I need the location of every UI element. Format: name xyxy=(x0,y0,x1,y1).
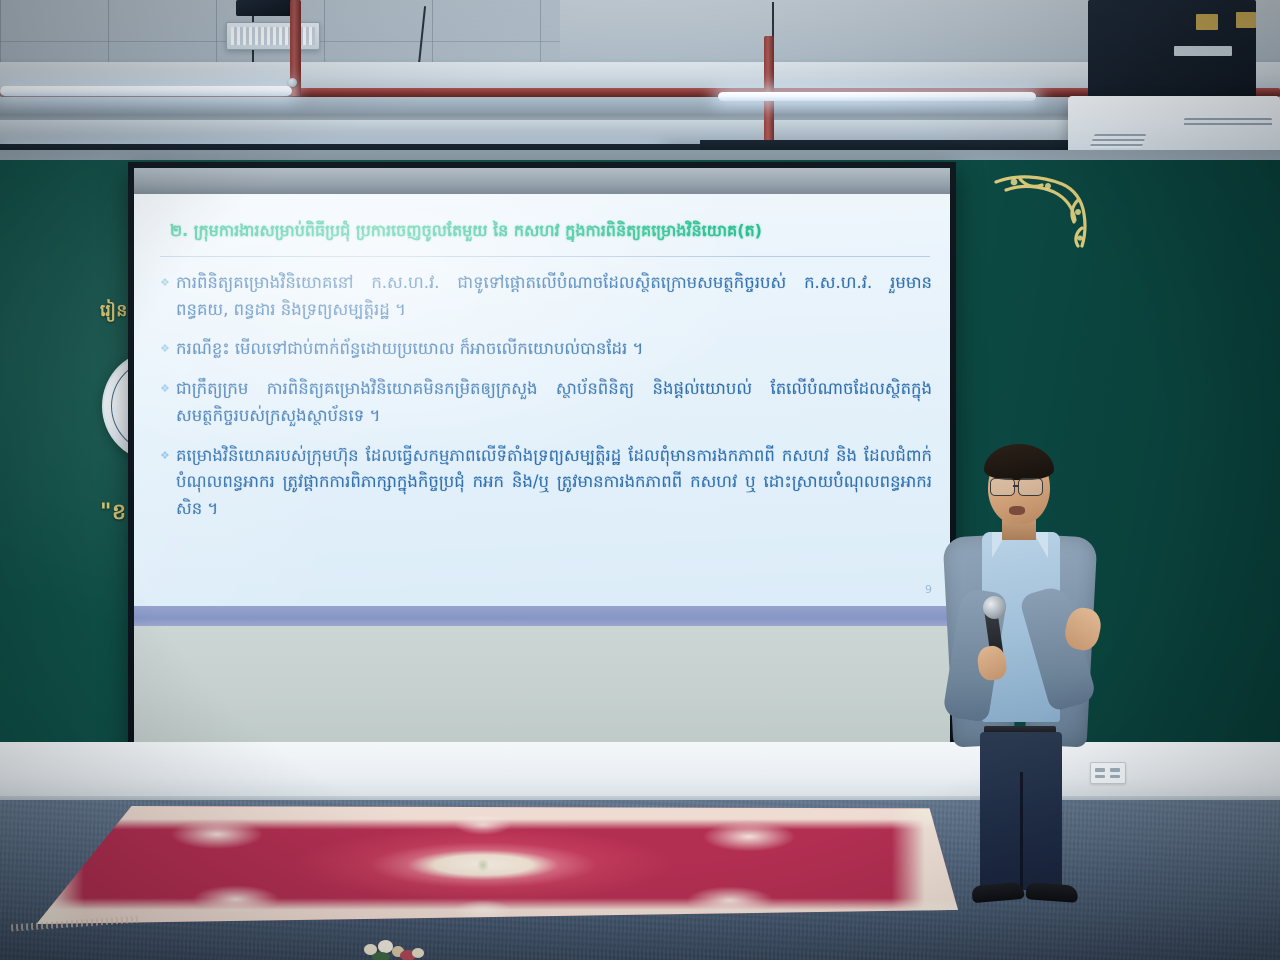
slide-bullet: ❖ គម្រោងវិនិយោគរបស់ក្រុមហ៊ុន ដែលធ្វើសកម្… xyxy=(160,443,932,523)
slide-bullet: ❖ ជាក្រឹត្យក្រម ការពិនិត្យគម្រោងវិនិយោគម… xyxy=(160,376,932,429)
right-shoe xyxy=(1025,882,1078,903)
equipment-box xyxy=(236,0,292,16)
rug-pattern xyxy=(8,806,958,924)
diamond-bullet-icon: ❖ xyxy=(160,270,176,296)
slide-bullet: ❖ ការពិនិត្យគម្រោងវិនិយោគនៅ ក.ស.ហ.វ. ជាទ… xyxy=(160,270,932,323)
ac-vent xyxy=(1089,134,1146,148)
recessed-panel-light-icon xyxy=(226,22,320,50)
screen-blue-band xyxy=(134,606,950,628)
title-divider xyxy=(160,256,930,257)
wall-khmer-label: រៀន xyxy=(100,300,128,325)
area-rug xyxy=(8,806,958,924)
equipment-sticker xyxy=(1196,14,1218,30)
screen-blank-lower xyxy=(134,626,950,760)
ac-vent xyxy=(1184,118,1272,127)
trouser-leg-seam xyxy=(1020,772,1023,890)
mouth xyxy=(1009,506,1025,515)
screen-top-roller xyxy=(134,168,950,194)
diamond-bullet-icon: ❖ xyxy=(160,376,176,402)
diamond-bullet-icon: ❖ xyxy=(160,443,176,469)
slide-bullet-text: ការពិនិត្យគម្រោងវិនិយោគនៅ ក.ស.ហ.វ. ជាទូទ… xyxy=(176,270,932,323)
equipment-sticker xyxy=(1236,12,1256,28)
fluorescent-tube-icon xyxy=(718,92,1036,101)
presentation-photo-scene: រៀន "ខ សាកលវិទ្យាល័យ ២. ក្រុមការងារសម្រា… xyxy=(0,0,1280,960)
slide-title: ២. ក្រុមការងារសម្រាប់ពិធីប្រជុំ ប្រការចេ… xyxy=(170,220,930,242)
wall-khmer-label-lower: "ខ xyxy=(100,498,126,530)
flower-arrangement xyxy=(352,928,472,960)
slide-bullet-text: គម្រោងវិនិយោគរបស់ក្រុមហ៊ុន ដែលធ្វើសកម្មភ… xyxy=(176,443,932,523)
eyeglasses-right-lens-icon xyxy=(1018,478,1043,496)
projection-screen: ២. ក្រុមការងារសម្រាប់ពិធីប្រជុំ ប្រការចេ… xyxy=(134,194,950,606)
ac-cassette-icon xyxy=(1068,96,1280,158)
left-shoe xyxy=(971,882,1024,903)
equipment-label xyxy=(1174,46,1232,56)
slide-bullet: ❖ ករណីខ្លះ មើលទៅជាប់ពាក់ព័ន្ធដោយប្រយោល ក… xyxy=(160,336,932,363)
diamond-bullet-icon: ❖ xyxy=(160,336,176,362)
eyeglasses-left-lens-icon xyxy=(990,478,1015,496)
slide-body: ❖ ការពិនិត្យគម្រោងវិនិយោគនៅ ក.ស.ហ.វ. ជាទ… xyxy=(160,270,932,536)
eyeglasses-bridge xyxy=(1013,485,1018,487)
slide-bullet-text: ករណីខ្លះ មើលទៅជាប់ពាក់ព័ន្ធដោយប្រយោល ក៏អ… xyxy=(176,336,932,363)
hair xyxy=(984,444,1054,480)
slide-bullet-text: ជាក្រឹត្យក្រម ការពិនិត្យគម្រោងវិនិយោគមិន… xyxy=(176,376,932,429)
fluorescent-tube-icon xyxy=(0,86,292,96)
presenter xyxy=(930,440,1160,920)
